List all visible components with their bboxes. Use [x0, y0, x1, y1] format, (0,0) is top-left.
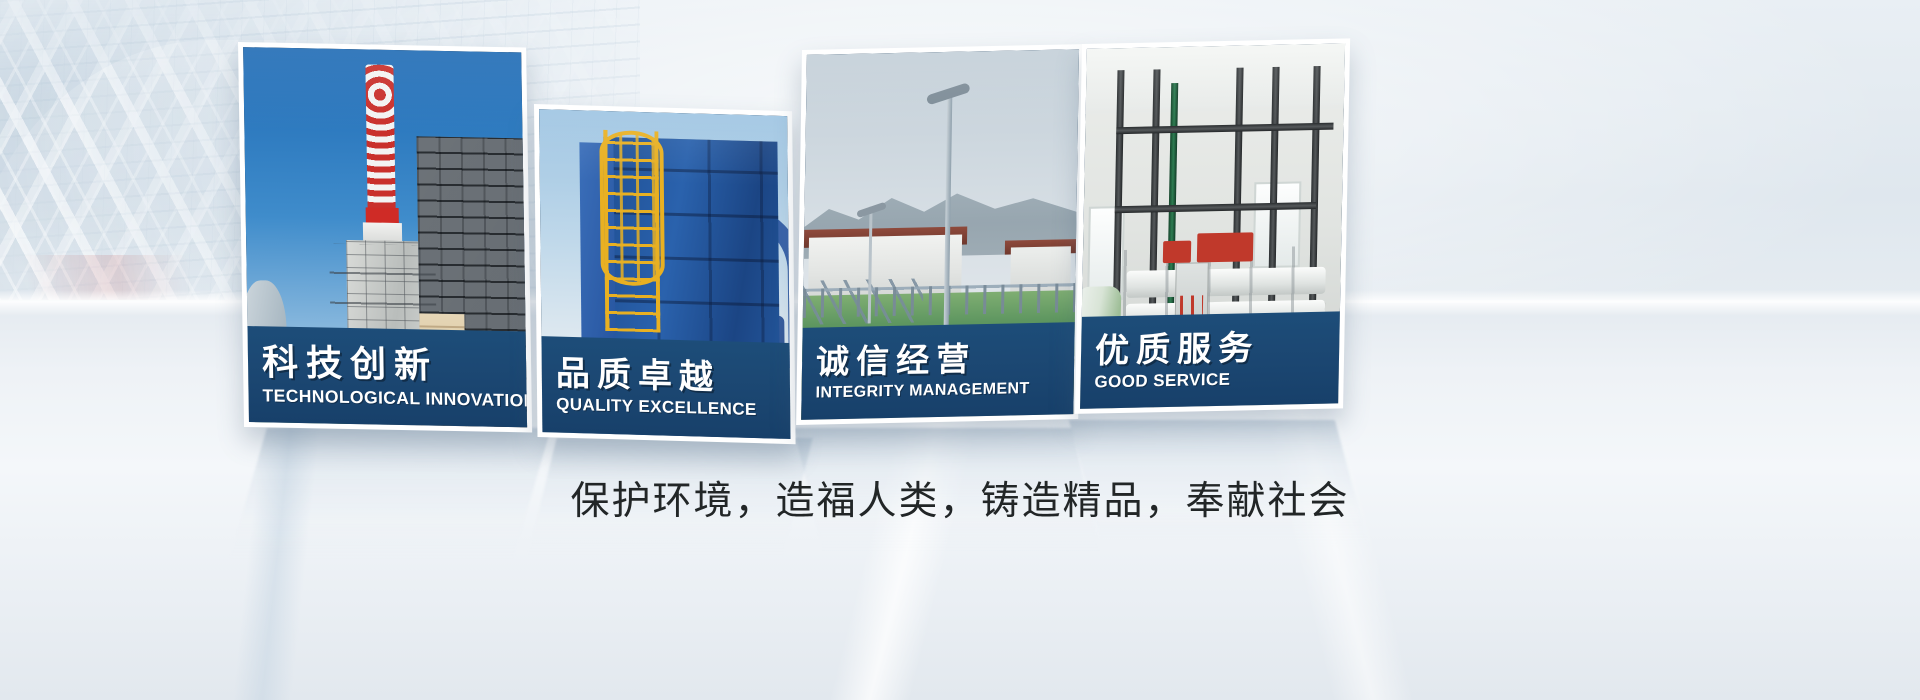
feature-panel-quality-excellence[interactable]: 品质卓越 QUALITY EXCELLENCE [534, 104, 796, 444]
warning-sign-small [1163, 241, 1192, 263]
panel-title-en: QUALITY EXCELLENCE [556, 394, 776, 421]
panel-caption: 品质卓越 QUALITY EXCELLENCE [541, 336, 790, 439]
panel-caption: 优质服务 GOOD SERVICE [1080, 311, 1340, 408]
panel-title-cn: 科技创新 [262, 343, 513, 388]
panel-caption: 科技创新 TECHNOLOGICAL INNOVATION [247, 326, 527, 427]
feature-panel-integrity-management[interactable]: 诚信经营 INTEGRITY MANAGEMENT [796, 44, 1084, 425]
panel-title-cn: 品质卓越 [556, 354, 776, 398]
banner-tagline: 保护环境，造福人类，铸造精品，奉献社会 [0, 470, 1920, 526]
room-ceiling [1086, 43, 1345, 113]
panel-title-en: INTEGRITY MANAGEMENT [815, 378, 1059, 402]
panel-inner: 优质服务 GOOD SERVICE [1080, 43, 1345, 408]
panel-title-en: GOOD SERVICE [1094, 368, 1325, 393]
feature-panel-good-service[interactable]: 优质服务 GOOD SERVICE [1075, 38, 1350, 414]
promo-banner: 科技创新 TECHNOLOGICAL INNOVATION [0, 0, 1920, 700]
ladder-safety-cage [599, 130, 665, 287]
safety-railing [803, 283, 1076, 318]
warning-sign-large [1196, 232, 1253, 262]
panel-title-en: TECHNOLOGICAL INNOVATION [262, 385, 512, 411]
panel-inner: 品质卓越 QUALITY EXCELLENCE [539, 109, 790, 439]
panel-title-cn: 优质服务 [1095, 327, 1326, 370]
panel-inner: 科技创新 TECHNOLOGICAL INNOVATION [243, 47, 527, 427]
panel-caption: 诚信经营 INTEGRITY MANAGEMENT [801, 322, 1075, 420]
panel-inner: 诚信经营 INTEGRITY MANAGEMENT [801, 49, 1079, 420]
panel-group: 科技创新 TECHNOLOGICAL INNOVATION [0, 0, 1920, 700]
feature-panel-technological-innovation[interactable]: 科技创新 TECHNOLOGICAL INNOVATION [238, 42, 532, 432]
chimney-stack [366, 64, 396, 215]
panel-title-cn: 诚信经营 [816, 339, 1061, 381]
